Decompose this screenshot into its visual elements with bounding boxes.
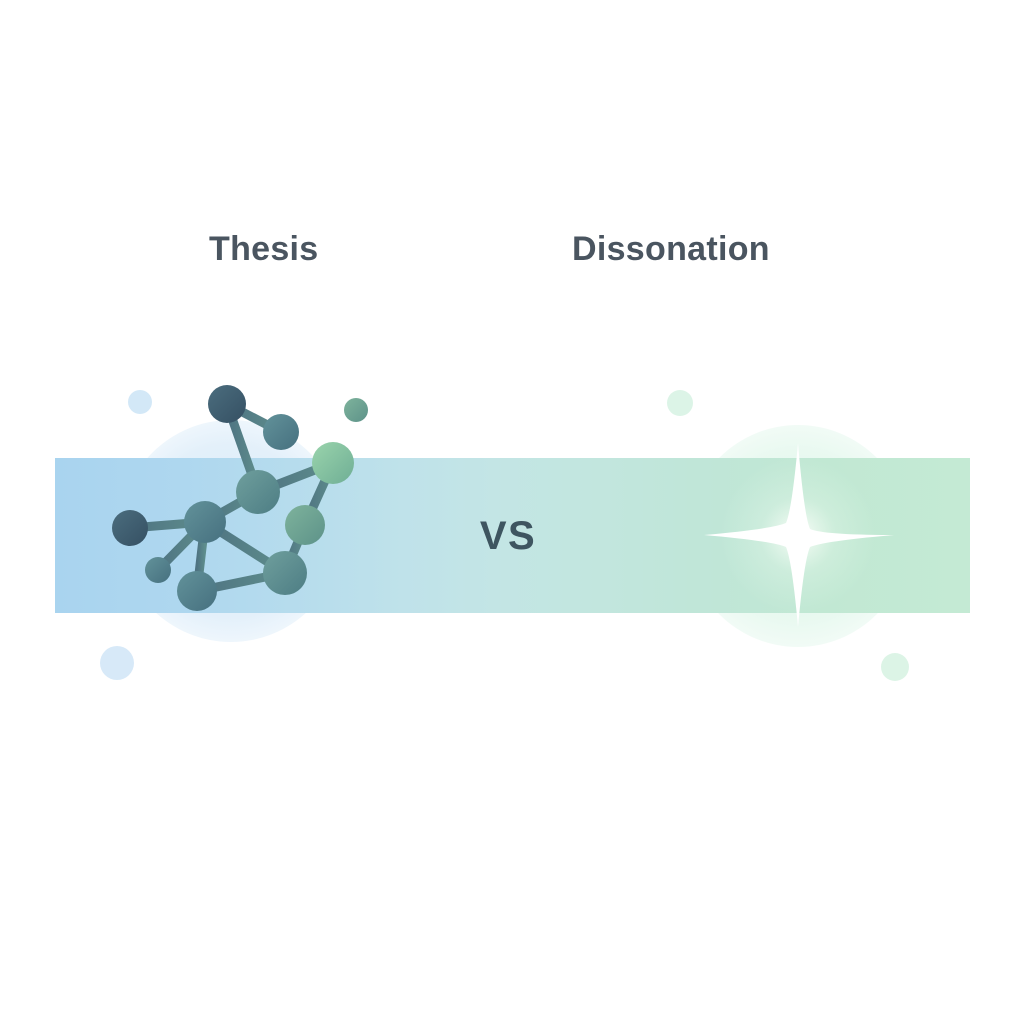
network-node xyxy=(263,551,307,595)
decorative-dot-top-right xyxy=(667,390,693,416)
network-node xyxy=(208,385,246,423)
comparison-graphic: Thesis Dissonation xyxy=(0,0,1024,1024)
decorative-dot-bottom-left xyxy=(100,646,134,680)
network-node xyxy=(177,571,217,611)
vs-text: VS xyxy=(480,514,536,558)
network-node xyxy=(344,398,368,422)
network-node xyxy=(263,414,299,450)
heading-left: Thesis xyxy=(209,232,319,266)
network-node xyxy=(145,557,171,583)
decorative-dot-bottom-right xyxy=(881,653,909,681)
heading-right: Dissonation xyxy=(572,232,770,266)
network-nodes xyxy=(112,385,368,611)
vs-label: VS xyxy=(0,516,1024,556)
network-node xyxy=(312,442,354,484)
network-node xyxy=(236,470,280,514)
network-graph-icon xyxy=(95,370,385,630)
